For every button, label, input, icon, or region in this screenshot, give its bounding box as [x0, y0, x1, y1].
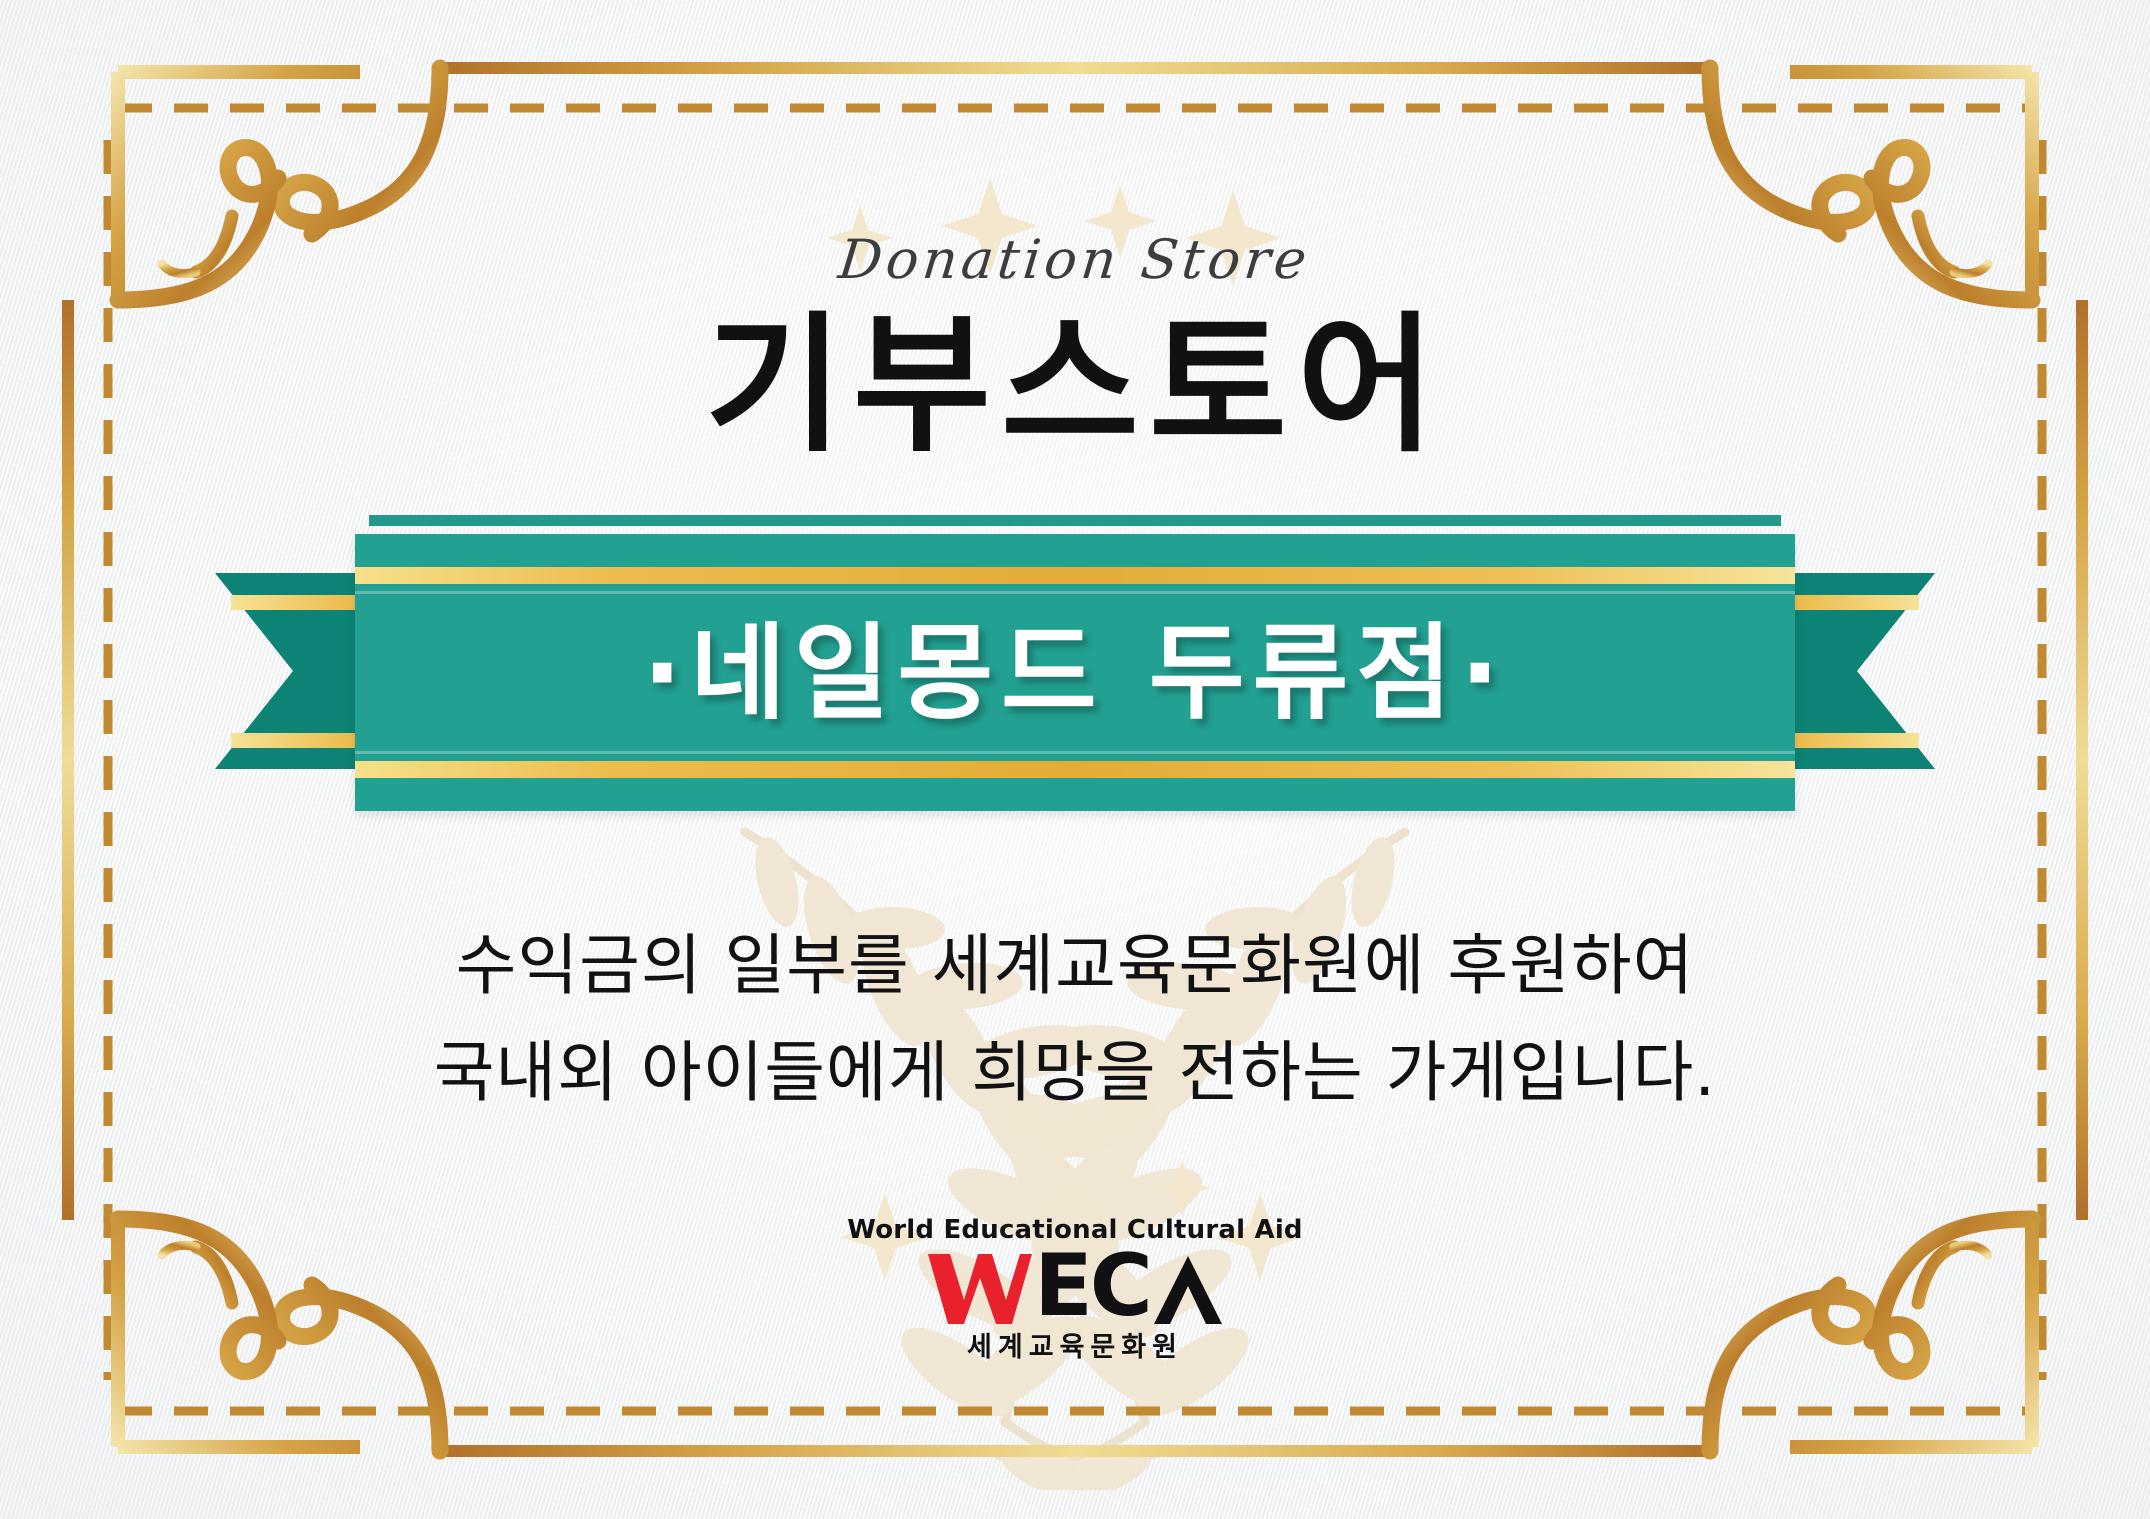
script-subtitle: Donation Store [836, 228, 1314, 291]
ribbon-top-pinline [369, 515, 1781, 526]
ribbon-band-body: ·네일몽드 두류점· [355, 534, 1795, 811]
weca-logo: World Educational Cultural Aid EC 세계교육문화… [847, 1217, 1303, 1361]
page-title: 기부스토어 [705, 301, 1445, 469]
weca-letters-ec: EC [1034, 1248, 1150, 1325]
donation-store-certificate: Donation Store 기부스토어 [0, 0, 2150, 1519]
store-name-ribbon: ·네일몽드 두류점· [215, 515, 1935, 825]
ribbon-gold-stripe-bottom [355, 761, 1795, 778]
mission-line-2: 국내외 아이들에게 희망을 전하는 가게입니다. [434, 1020, 1717, 1127]
ribbon-main-band: ·네일몽드 두류점· [355, 515, 1795, 811]
ribbon-white-line-bottom [355, 751, 1795, 754]
mission-statement: 수익금의 일부를 세계교육문화원에 후원하여 국내외 아이들에게 희망을 전하는… [434, 913, 1717, 1127]
ribbon-gold-stripe-top [355, 567, 1795, 584]
ribbon-white-line-top [355, 591, 1795, 594]
weca-letter-w-icon [926, 1252, 1034, 1326]
weca-letter-a-icon [1152, 1254, 1224, 1326]
weca-wordmark: EC [847, 1250, 1303, 1326]
mission-line-1: 수익금의 일부를 세계교육문화원에 후원하여 [434, 913, 1717, 1020]
weca-letters-eca: EC [1034, 1248, 1224, 1325]
certificate-content: Donation Store 기부스토어 [0, 0, 2150, 1519]
store-name-label: ·네일몽드 두류점· [355, 621, 1795, 725]
weca-korean-name: 세계교육문화원 [847, 1334, 1303, 1361]
